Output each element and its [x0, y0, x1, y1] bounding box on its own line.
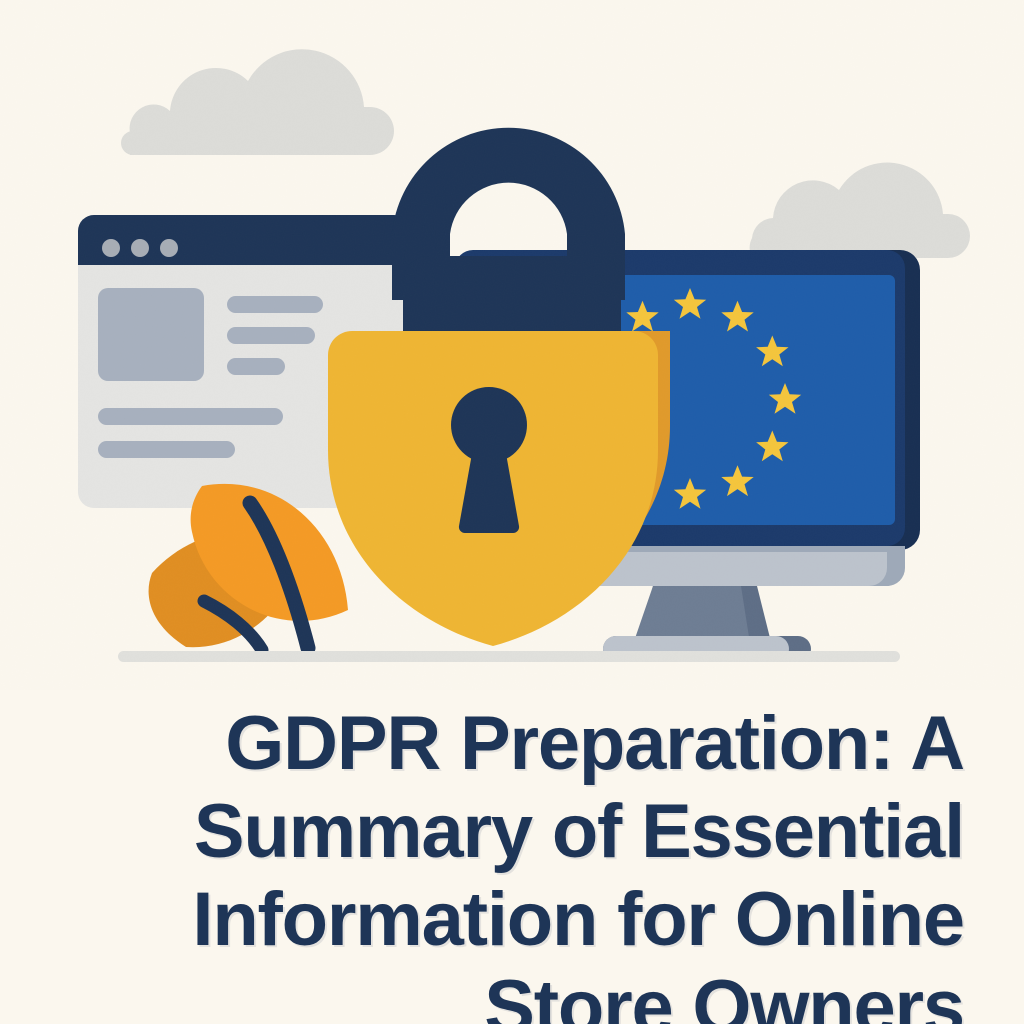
- gdpr-security-illustration: [0, 0, 1024, 690]
- page-title: GDPR Preparation: A Summary of Essential…: [60, 700, 964, 1024]
- title-block: GDPR Preparation: A Summary of Essential…: [60, 700, 964, 1024]
- poster-root: GDPR Preparation: A Summary of Essential…: [0, 0, 1024, 1024]
